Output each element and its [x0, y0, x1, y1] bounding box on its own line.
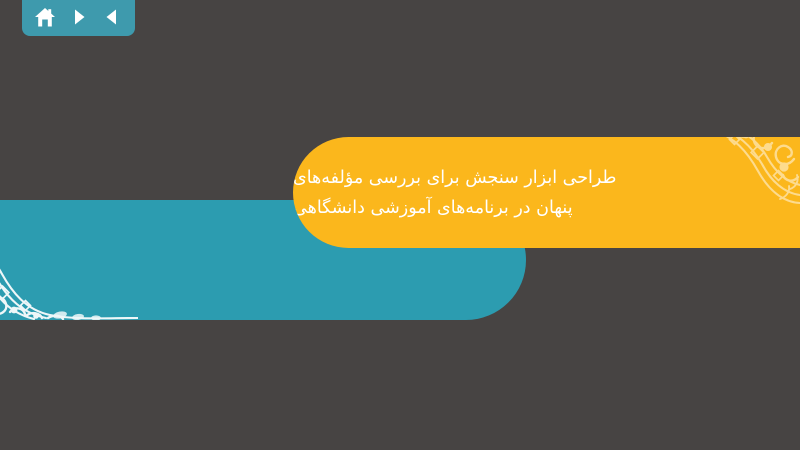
home-button[interactable] — [31, 4, 59, 30]
title-banner: طراحی ابزار سنجش برای بررسی مؤلفه‌های پن… — [293, 137, 800, 248]
islamic-arabesque-corner-icon — [640, 137, 800, 229]
slide-canvas: طراحی ابزار سنجش برای بررسی مؤلفه‌های پن… — [0, 0, 800, 450]
forward-arrow-icon — [69, 7, 89, 27]
navigation-bar — [22, 0, 135, 36]
title-line-1: طراحی ابزار سنجش برای بررسی مؤلفه‌های — [293, 163, 642, 193]
title-line-2: پنهان در برنامه‌های آموزشی دانشگاهی — [293, 193, 599, 223]
home-icon — [34, 7, 56, 28]
forward-button[interactable] — [65, 4, 93, 30]
islamic-arabesque-corner-icon — [0, 216, 138, 320]
back-arrow-icon — [102, 7, 122, 27]
back-button[interactable] — [98, 4, 126, 30]
